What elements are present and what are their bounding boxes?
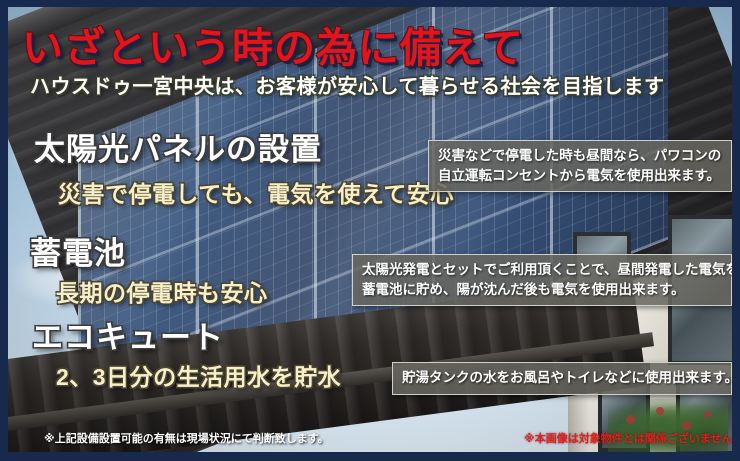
page-subtitle: ハウスドゥ一宮中央は、お客様が安心して暮らせる社会を目指します (30, 70, 665, 99)
callout-line: 災害などで停電した時も昼間なら、パワコンの (438, 146, 722, 166)
disclaimer-equipment: ※上記設備設置可能の有無は現場状況にて判断致します。 (44, 430, 329, 446)
feature-title-solar-panel: 太陽光パネルの設置 (34, 124, 322, 169)
feature-subtitle-solar-panel: 災害で停電しても、電気を使えて安心 (58, 175, 454, 209)
page-title: いざという時の為に備えて (22, 14, 524, 74)
feature-subtitle-storage-battery: 長期の停電時も安心 (56, 274, 268, 308)
callout-line: 貯湯タンクの水をお風呂やトイレなどに使用出来ます。 (402, 368, 722, 388)
callout-line: 自立運転コンセントから電気を使用出来ます。 (438, 166, 722, 186)
callout-solar-panel: 災害などで停電した時も昼間なら、パワコンの 自立運転コンセントから電気を使用出来… (428, 140, 732, 192)
feature-title-ecocute: エコキュート (32, 312, 224, 357)
callout-storage-battery: 太陽光発電とセットでご利用頂くことで、昼間発電した電気を 蓄電池に貯め、陽が沈ん… (352, 254, 732, 306)
feature-subtitle-ecocute: 2、3日分の生活用水を貯水 (56, 358, 341, 392)
disclaimer-image: ※本画像は対象物件とは関係ございません。 (524, 430, 740, 446)
feature-title-storage-battery: 蓄電池 (30, 228, 126, 273)
callout-line: 太陽光発電とセットでご利用頂くことで、昼間発電した電気を (362, 260, 722, 280)
callout-ecocute: 貯湯タンクの水をお風呂やトイレなどに使用出来ます。 (392, 362, 732, 395)
callout-line: 蓄電池に貯め、陽が沈んだ後も電気を使用出来ます。 (362, 280, 722, 300)
promo-banner: いざという時の為に備えて ハウスドゥ一宮中央は、お客様が安心して暮らせる社会を目… (0, 0, 740, 461)
